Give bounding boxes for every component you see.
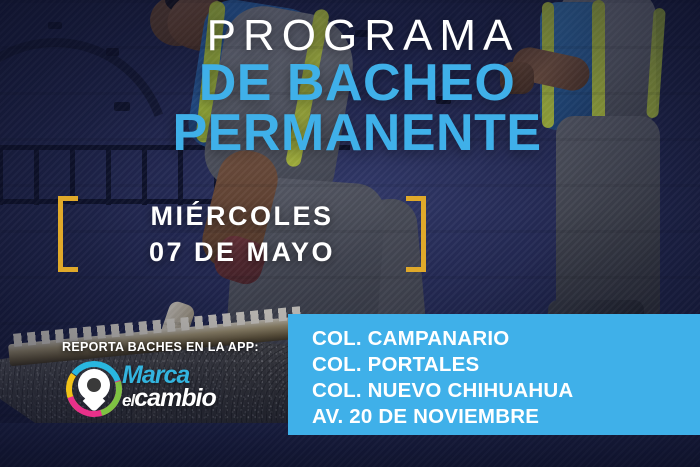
bracket-left-icon (58, 196, 78, 272)
location-item: COL. NUEVO CHIHUAHUA (312, 378, 700, 404)
bracket-right-icon (406, 196, 426, 272)
location-pin-icon (66, 361, 122, 417)
title-line-2: PERMANENTE (14, 108, 700, 158)
marca-el-cambio-logo[interactable]: Marca elcambio (66, 361, 256, 417)
location-item: AV. 20 DE NOVIEMBRE (312, 404, 700, 430)
poster-content: PROGRAMA DE BACHEO PERMANENTE MIÉRCOLES … (0, 0, 700, 467)
logo-word-el: el (122, 391, 134, 410)
date-day: 07 DE MAYO (78, 234, 406, 270)
date-block: MIÉRCOLES 07 DE MAYO (58, 196, 426, 272)
title-programa: PROGRAMA (0, 14, 700, 58)
logo-word-cambio-main: cambio (134, 384, 216, 412)
logo-wordmark: Marca elcambio (122, 363, 216, 414)
location-item: COL. CAMPANARIO (312, 326, 700, 352)
logo-word-cambio: elcambio (122, 385, 216, 414)
bacheo-program-poster: PROGRAMA DE BACHEO PERMANENTE MIÉRCOLES … (0, 0, 700, 467)
location-item: COL. PORTALES (312, 352, 700, 378)
locations-panel: COL. CAMPANARIO COL. PORTALES COL. NUEVO… (288, 314, 700, 435)
date-weekday: MIÉRCOLES (150, 201, 333, 231)
report-app-text: REPORTA BACHES EN LA APP: (62, 340, 259, 354)
date-text: MIÉRCOLES 07 DE MAYO (78, 198, 406, 270)
title-main: DE BACHEO PERMANENTE (0, 58, 700, 158)
